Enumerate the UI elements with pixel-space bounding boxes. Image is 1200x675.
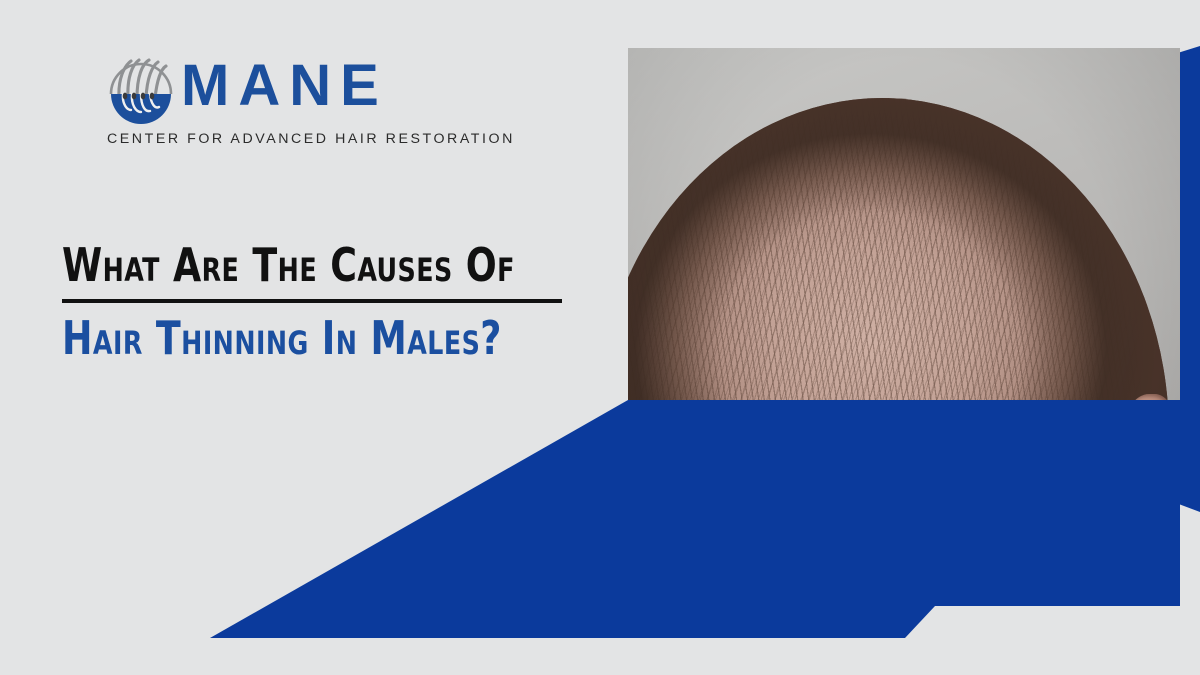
- headline-divider: [62, 299, 562, 303]
- headline-block: What Are The Causes Of Hair Thinning In …: [62, 242, 582, 363]
- bottom-left-blue-triangle: [210, 400, 628, 638]
- brand-logo[interactable]: MANE CENTER FOR ADVANCED HAIR RESTORATIO…: [103, 52, 503, 147]
- hero-photo: Top-down view of a man's head showing th…: [628, 48, 1180, 606]
- hair-follicle-circle-icon: [103, 52, 179, 124]
- photo-vignette: [628, 48, 1180, 606]
- logo-tagline: CENTER FOR ADVANCED HAIR RESTORATION: [107, 131, 503, 147]
- logo-wordmark: MANE: [181, 57, 388, 119]
- headline-line-2: Hair Thinning In Males?: [62, 315, 520, 362]
- banner-canvas: Top-down view of a man's head showing th…: [0, 0, 1200, 675]
- headline-line-1: What Are The Causes Of: [62, 242, 520, 289]
